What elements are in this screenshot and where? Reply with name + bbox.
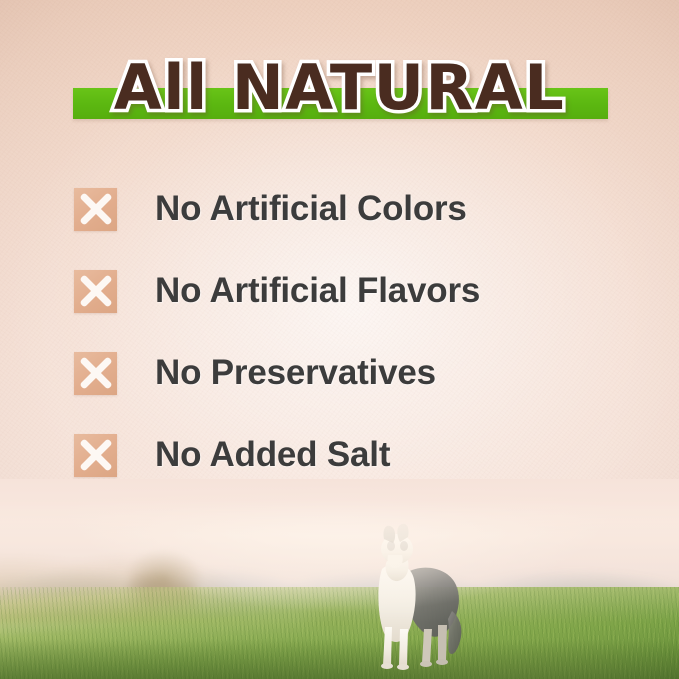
x-mark-icon: [74, 188, 117, 231]
x-mark-icon: [74, 434, 117, 477]
photo-scene: [0, 479, 679, 679]
claim-label: No Artificial Flavors: [155, 271, 480, 311]
title-banner: All NATURAL: [0, 52, 679, 132]
page-title: All NATURAL: [0, 52, 679, 124]
x-mark-icon: [74, 270, 117, 313]
landscape-photo: [0, 479, 679, 679]
claim-label: No Added Salt: [155, 435, 390, 475]
grass-foreground-shadow: [0, 639, 679, 679]
all-natural-product-poster: All NATURAL No Artificial Colors No Arti…: [0, 0, 679, 679]
list-item: No Preservatives: [0, 332, 679, 414]
list-item: No Artificial Colors: [0, 168, 679, 250]
list-item: No Artificial Flavors: [0, 250, 679, 332]
claim-label: No Preservatives: [155, 353, 436, 393]
x-mark-icon: [74, 352, 117, 395]
dog-icon: [352, 515, 470, 673]
claim-label: No Artificial Colors: [155, 189, 467, 229]
claims-list: No Artificial Colors No Artificial Flavo…: [0, 168, 679, 496]
